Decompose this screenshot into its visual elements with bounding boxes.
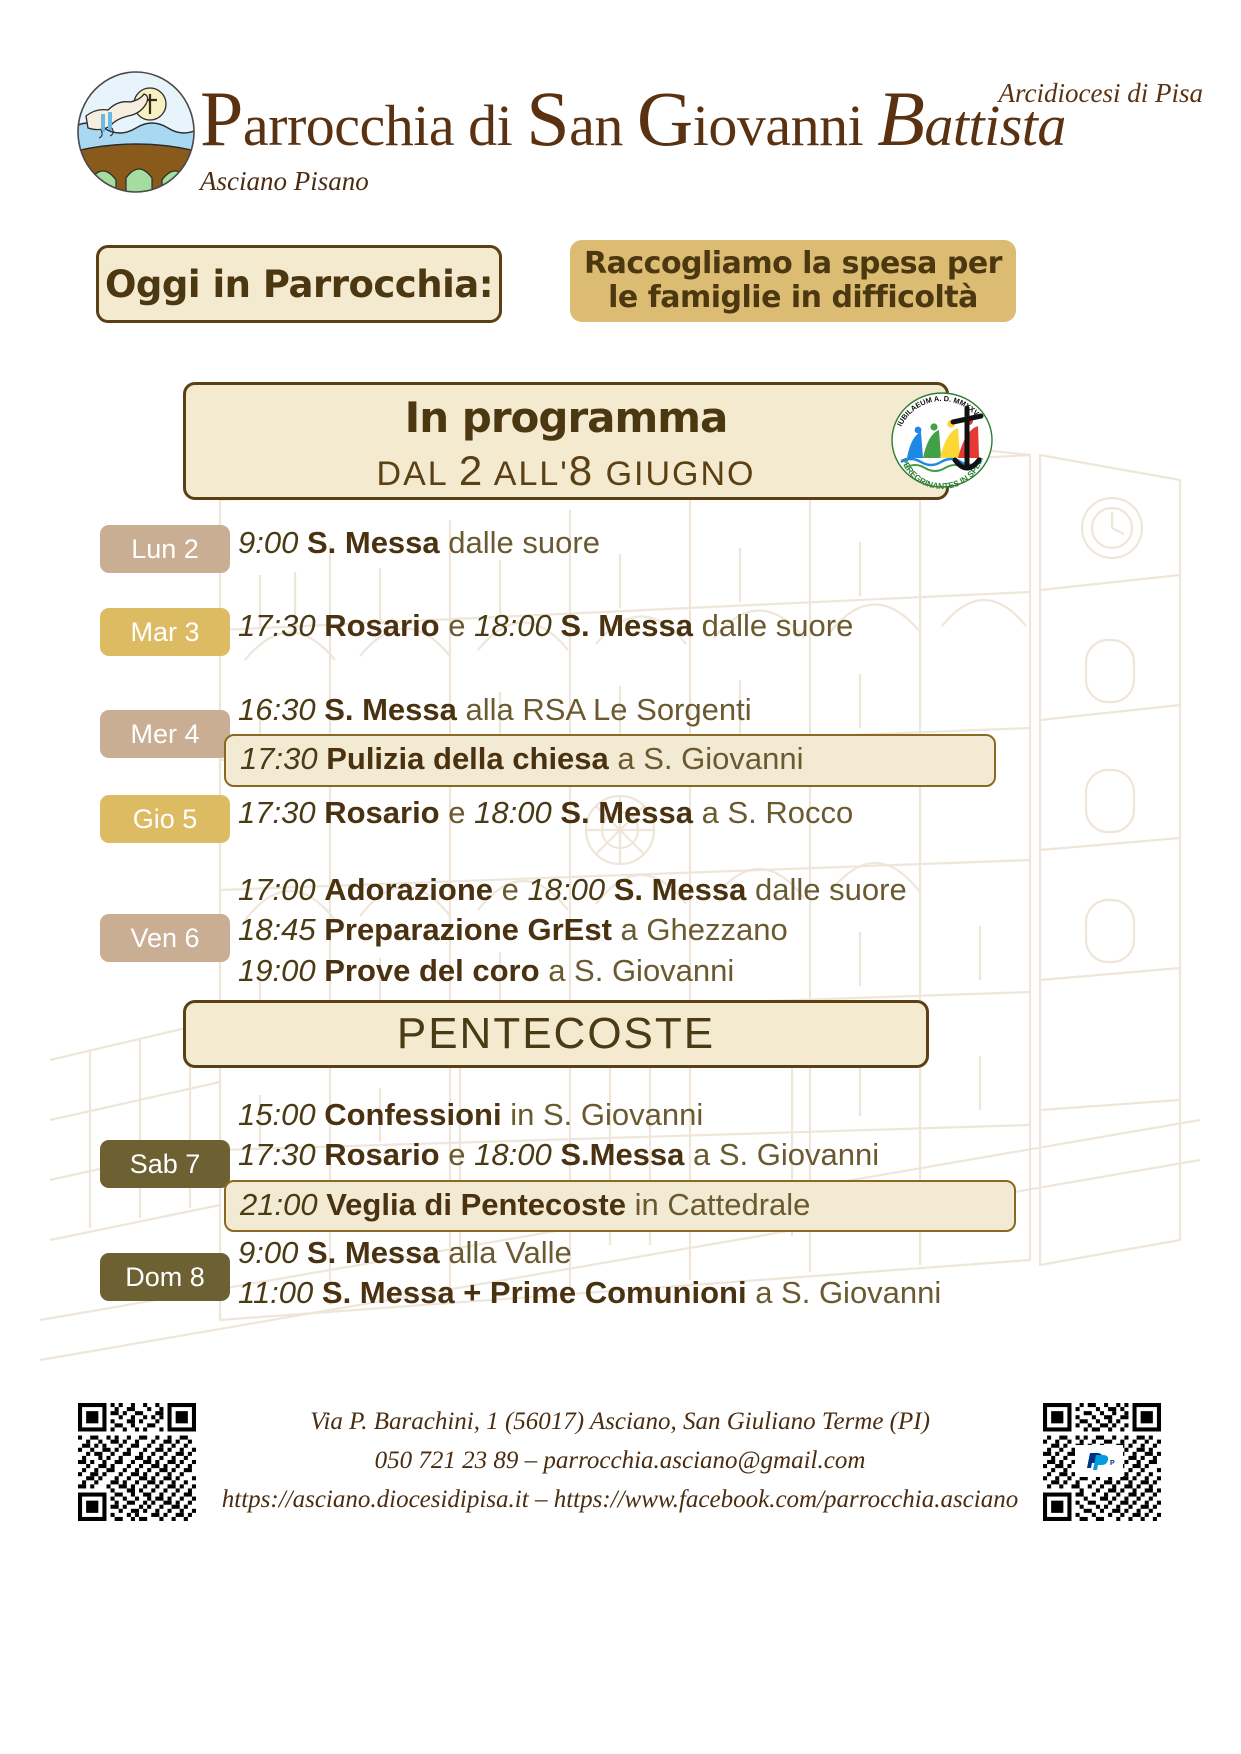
event-time-2: 18:00 [474,1137,552,1172]
events-ven-6: 17:00 Adorazione e 18:00 S. Messa dalle … [238,870,1221,991]
qr-code-website[interactable] [78,1403,196,1521]
event-place: alla Valle [448,1235,572,1270]
events-gio-5: 17:30 Rosario e 18:00 S. Messa a S. Rocc… [238,793,1221,833]
event-item: 9:00 S. Messa alla Valle [238,1233,1221,1273]
today-banner: Oggi in Parrocchia: [96,245,502,323]
links-line: https://asciano.diocesidipisa.it – https… [200,1481,1040,1520]
event-time: 9:00 [238,1235,298,1270]
banner-row: Oggi in Parrocchia: Raccogliamo la spesa… [0,240,1241,330]
event-item: 9:00 S. Messa dalle suore [238,523,1221,563]
range-day-from: 2 [459,447,484,494]
event-title: Pulizia della chiesa [326,741,609,776]
day-badge-sab-7: Sab 7 [100,1140,230,1188]
event-item-highlighted: 17:30 Pulizia della chiesa a S. Giovanni [224,734,996,786]
event-item: 19:00 Prove del coro a S. Giovanni [238,951,1221,991]
event-title: S. Messa [307,525,440,560]
event-time: 17:30 [240,741,318,776]
event-place: in Cattedrale [635,1187,811,1222]
page-title: Parrocchia di San Giovanni Battista [200,92,1066,159]
event-conjunction: e [448,795,465,830]
event-place: a S. Giovanni [548,953,734,988]
address-line: Via P. Barachini, 1 (56017) Asciano, San… [200,1403,1040,1442]
parish-emblem-icon [72,68,200,196]
programme-banner: In programma DAL 2 ALL'8 GIUGNO [183,382,949,500]
event-item: 18:45 Preparazione GrEst a Ghezzano [238,910,1221,950]
event-title: Rosario [324,1137,439,1172]
diocese-label: Arcidiocesi di Pisa [999,78,1203,109]
event-title-2: S. Messa [560,608,693,643]
event-item: 17:30 Rosario e 18:00 S. Messa a S. Rocc… [238,793,1221,833]
event-title: S. Messa [324,692,457,727]
parish-location-subtitle: Asciano Pisano [200,166,369,197]
event-item: 16:30 S. Messa alla RSA Le Sorgenti [238,690,1221,730]
event-title-2: S. Messa [560,795,693,830]
event-title-2: S.Messa [560,1137,684,1172]
contact-details: Via P. Barachini, 1 (56017) Asciano, San… [200,1403,1040,1519]
event-title: Preparazione GrEst [324,912,612,947]
food-drive-line-1: Raccogliamo la spesa per [584,247,1002,281]
event-place: dalle suore [755,872,907,907]
event-place: dalle suore [702,608,854,643]
svg-text:P: P [1110,1460,1115,1467]
pentecost-banner: PENTECOSTE [183,1000,929,1068]
events-dom-8: 9:00 S. Messa alla Valle 11:00 S. Messa … [238,1233,1221,1314]
events-lun-2: 9:00 S. Messa dalle suore [238,523,1221,563]
range-mid: ALL' [484,455,569,493]
event-time: 16:30 [238,692,316,727]
food-drive-banner: Raccogliamo la spesa per le famiglie in … [570,240,1016,322]
event-place: a S. Giovanni [755,1275,941,1310]
event-time: 17:30 [238,795,316,830]
event-time-2: 18:00 [474,795,552,830]
jubilee-2025-logo-icon: IUBILAEUM A. D. MMXXV PEREGRINANTES IN S… [885,390,999,490]
event-title: S. Messa [307,1235,440,1270]
event-title: Prove del coro [324,953,539,988]
event-time: 19:00 [238,953,316,988]
range-suffix: GIUGNO [594,455,755,493]
event-place: a Ghezzano [621,912,788,947]
contact-line: 050 721 23 89 – parrocchia.asciano@gmail… [200,1442,1040,1481]
range-day-to: 8 [569,447,594,494]
event-title: Rosario [324,795,439,830]
event-title-2: S. Messa [614,872,747,907]
event-place: a S. Rocco [702,795,854,830]
events-sab-7: 15:00 Confessioni in S. Giovanni 17:30 R… [238,1095,1221,1232]
range-prefix: DAL [377,455,459,493]
event-time-2: 18:00 [474,608,552,643]
day-badge-dom-8: Dom 8 [100,1253,230,1301]
page-header: Parrocchia di San Giovanni Battista Asci… [0,0,1241,220]
event-time: 17:00 [238,872,316,907]
event-time: 17:30 [238,608,316,643]
paypal-logo-icon: P [1075,1445,1123,1477]
event-place: a S. Giovanni [693,1137,879,1172]
event-time: 11:00 [238,1275,313,1310]
event-conjunction: e [448,1137,465,1172]
programme-title: In programma [186,393,946,442]
event-conjunction: e [502,872,519,907]
event-item: 15:00 Confessioni in S. Giovanni [238,1095,1221,1135]
event-place: alla RSA Le Sorgenti [466,692,752,727]
day-badge-gio-5: Gio 5 [100,795,230,843]
event-item: 11:00 S. Messa + Prime Comunioni a S. Gi… [238,1273,1221,1313]
events-mar-3: 17:30 Rosario e 18:00 S. Messa dalle suo… [238,606,1221,646]
event-time: 15:00 [238,1097,316,1132]
event-item: 17:30 Rosario e 18:00 S.Messa a S. Giova… [238,1135,1221,1175]
event-place: in S. Giovanni [510,1097,703,1132]
event-title: Rosario [324,608,439,643]
day-badge-lun-2: Lun 2 [100,525,230,573]
event-time-2: 18:00 [528,872,606,907]
event-title: Adorazione [324,872,493,907]
event-place: dalle suore [448,525,600,560]
day-badge-mer-4: Mer 4 [100,710,230,758]
event-time: 21:00 [240,1187,318,1222]
food-drive-line-2: le famiglie in difficoltà [584,281,1002,315]
page-footer: Via P. Barachini, 1 (56017) Asciano, San… [0,1395,1241,1595]
event-time: 17:30 [238,1137,316,1172]
event-conjunction: e [448,608,465,643]
event-title: Veglia di Pentecoste [326,1187,626,1222]
programme-date-range: DAL 2 ALL'8 GIUGNO [186,447,946,495]
day-badge-ven-6: Ven 6 [100,914,230,962]
event-item: 17:00 Adorazione e 18:00 S. Messa dalle … [238,870,1221,910]
event-time: 9:00 [238,525,298,560]
day-badge-mar-3: Mar 3 [100,608,230,656]
event-title: S. Messa + Prime Comunioni [322,1275,747,1310]
events-mer-4: 16:30 S. Messa alla RSA Le Sorgenti 17:3… [238,690,1221,787]
event-title: Confessioni [324,1097,501,1132]
event-item: 17:30 Rosario e 18:00 S. Messa dalle suo… [238,606,1221,646]
event-place: a S. Giovanni [617,741,803,776]
event-time: 18:45 [238,912,316,947]
event-item-highlighted: 21:00 Veglia di Pentecoste in Cattedrale [224,1180,1016,1232]
